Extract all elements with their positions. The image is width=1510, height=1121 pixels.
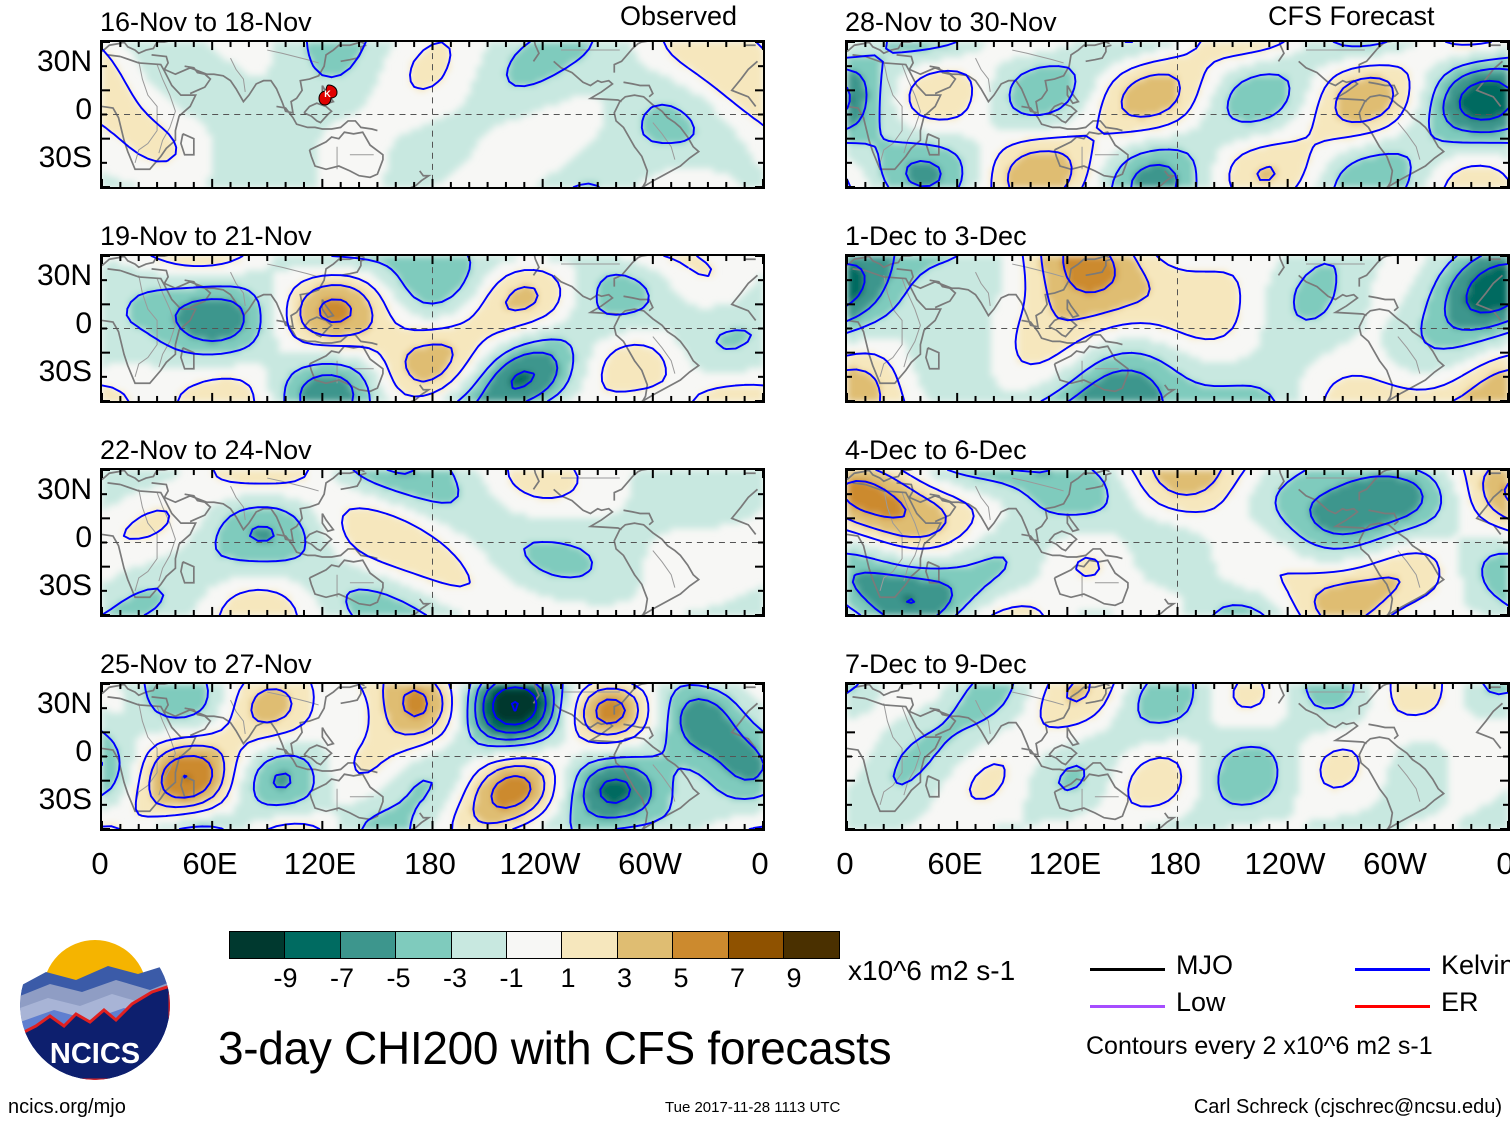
contour-interval-note: Contours every 2 x10^6 m2 s-1 (1086, 1032, 1433, 1061)
colorbar-swatch (285, 932, 340, 958)
colorbar-swatch (729, 932, 784, 958)
anomaly-field (847, 470, 1508, 615)
x-tick-label: 120W (490, 848, 590, 879)
colorbar-swatch (673, 932, 728, 958)
panel-title: 25-Nov to 27-Nov (100, 651, 312, 678)
legend-label: MJO (1176, 950, 1233, 981)
x-tick-label: 120E (1015, 848, 1115, 879)
colorbar-swatch (341, 932, 396, 958)
legend-line-mjo (1090, 968, 1165, 971)
y-tick-label: 30N (4, 261, 92, 291)
main-title: 3-day CHI200 with CFS forecasts (218, 1021, 891, 1075)
colorbar (229, 931, 840, 959)
tropical-cyclone-icon: K (318, 84, 339, 106)
panel-title: 1-Dec to 3-Dec (845, 223, 1027, 250)
y-tick-label: 30N (4, 689, 92, 719)
panel-title: 7-Dec to 9-Dec (845, 651, 1027, 678)
legend-line-kelvin-x2 (1355, 968, 1430, 971)
legend-label: Low (1176, 987, 1226, 1018)
y-tick-label: 0 (4, 737, 92, 767)
legend-line-low (1090, 1005, 1165, 1008)
panel-title: 28-Nov to 30-Nov (845, 9, 1057, 36)
colorbar-swatch (452, 932, 507, 958)
x-tick-label: 180 (1125, 848, 1225, 879)
x-tick-label: 0 (795, 848, 895, 879)
logo-text: NCICS (50, 1038, 140, 1070)
y-tick-label: 30S (4, 357, 92, 387)
panel-title: 19-Nov to 21-Nov (100, 223, 312, 250)
legend-label: Kelvin x2 (1441, 950, 1510, 981)
y-tick-label: 30S (4, 785, 92, 815)
column-header-forecast: CFS Forecast (1268, 3, 1435, 30)
colorbar-swatch (618, 932, 673, 958)
colorbar-swatch (396, 932, 451, 958)
map-area[interactable] (100, 468, 765, 617)
x-tick-label: 180 (380, 848, 480, 879)
y-tick-label: 0 (4, 523, 92, 553)
y-tick-label: 0 (4, 95, 92, 125)
x-tick-label: 0 (1455, 848, 1510, 879)
x-tick-label: 60W (1345, 848, 1445, 879)
map-area[interactable] (845, 40, 1510, 189)
svg-text:K: K (324, 89, 331, 99)
map-area[interactable] (845, 468, 1510, 617)
x-tick-label: 120E (270, 848, 370, 879)
x-tick-label: 60E (905, 848, 1005, 879)
map-area[interactable] (845, 682, 1510, 831)
footer-center: Tue 2017-11-28 1113 UTC (665, 1099, 840, 1116)
colorbar-swatch (562, 932, 617, 958)
x-tick-label: 120W (1235, 848, 1335, 879)
x-tick-label: 60W (600, 848, 700, 879)
anomaly-field (847, 42, 1508, 187)
footer-right: Carl Schreck (cjschrec@ncsu.edu) (1194, 1096, 1502, 1119)
ncics-logo: NCICS (20, 930, 170, 1080)
y-tick-label: 30S (4, 143, 92, 173)
y-tick-label: 30N (4, 47, 92, 77)
anomaly-field (847, 684, 1508, 829)
footer-left[interactable]: ncics.org/mjo (8, 1096, 126, 1119)
colorbar-swatch (507, 932, 562, 958)
legend-label: ER (1441, 987, 1479, 1018)
x-tick-label: 0 (50, 848, 150, 879)
panel-title: 16-Nov to 18-Nov (100, 9, 312, 36)
colorbar-swatch (230, 932, 285, 958)
anomaly-field (102, 42, 763, 187)
legend-line-er (1355, 1005, 1430, 1008)
panel-title: 4-Dec to 6-Dec (845, 437, 1027, 464)
column-header-observed: Observed (620, 3, 737, 30)
y-tick-label: 30N (4, 475, 92, 505)
map-area[interactable]: K (100, 40, 765, 189)
colorbar-tick-label: 9 (754, 963, 834, 994)
anomaly-field (102, 256, 763, 401)
map-area[interactable] (100, 254, 765, 403)
colorbar-swatch (784, 932, 839, 958)
anomaly-field (102, 470, 763, 615)
map-area[interactable] (845, 254, 1510, 403)
panel-title: 22-Nov to 24-Nov (100, 437, 312, 464)
anomaly-field (102, 684, 763, 829)
colorbar-units: x10^6 m2 s-1 (848, 955, 1015, 987)
map-area[interactable] (100, 682, 765, 831)
y-tick-label: 0 (4, 309, 92, 339)
y-tick-label: 30S (4, 571, 92, 601)
anomaly-field (847, 256, 1508, 401)
x-tick-label: 60E (160, 848, 260, 879)
